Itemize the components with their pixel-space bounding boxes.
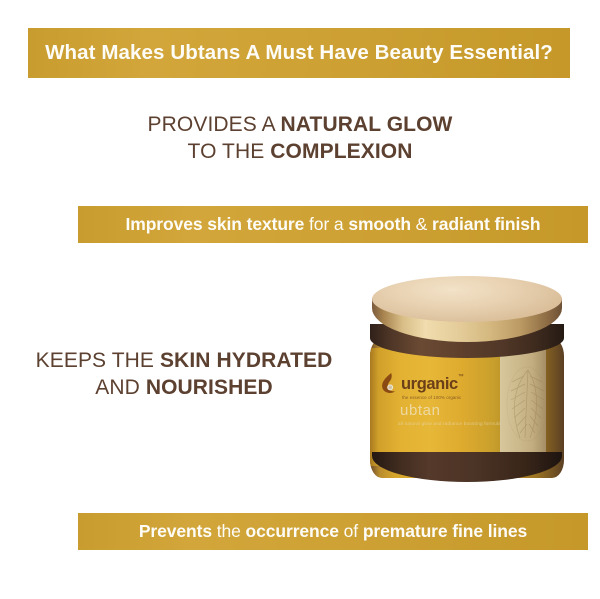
product-jar-image: urganic ™ the essence of 100% organic ub… [366,276,568,486]
benefit-skin-hydrated: KEEPS THE SKIN HYDRATEDAND NOURISHED [28,348,340,402]
brand-lockup: urganic ™ the essence of 100% organic [380,372,500,400]
benefit-fine-lines: Prevents the occurrence of premature fin… [78,513,588,550]
infographic-canvas: What Makes Ubtans A Must Have Beauty Ess… [0,0,600,599]
flame-droplet-logo-icon [380,372,400,394]
product-description-label: all natural glow and radiance boosting f… [398,421,501,426]
header-banner: What Makes Ubtans A Must Have Beauty Ess… [28,28,570,78]
benefit-fine-lines-label: Prevents the occurrence of premature fin… [139,521,527,542]
botanical-leaf-icon [500,352,546,464]
benefit-natural-glow: PROVIDES A NATURAL GLOWTO THE COMPLEXION [100,112,500,166]
jar-lid-top [372,276,562,322]
benefit-skin-texture: Improves skin texture for a smooth & rad… [78,206,588,243]
benefit-skin-texture-label: Improves skin texture for a smooth & rad… [125,214,540,235]
brand-trademark: ™ [458,374,464,380]
brand-name: urganic [401,376,458,393]
product-name-label: ubtan [400,402,441,419]
header-title: What Makes Ubtans A Must Have Beauty Ess… [45,41,553,65]
brand-tagline: the essence of 100% organic [402,396,500,400]
